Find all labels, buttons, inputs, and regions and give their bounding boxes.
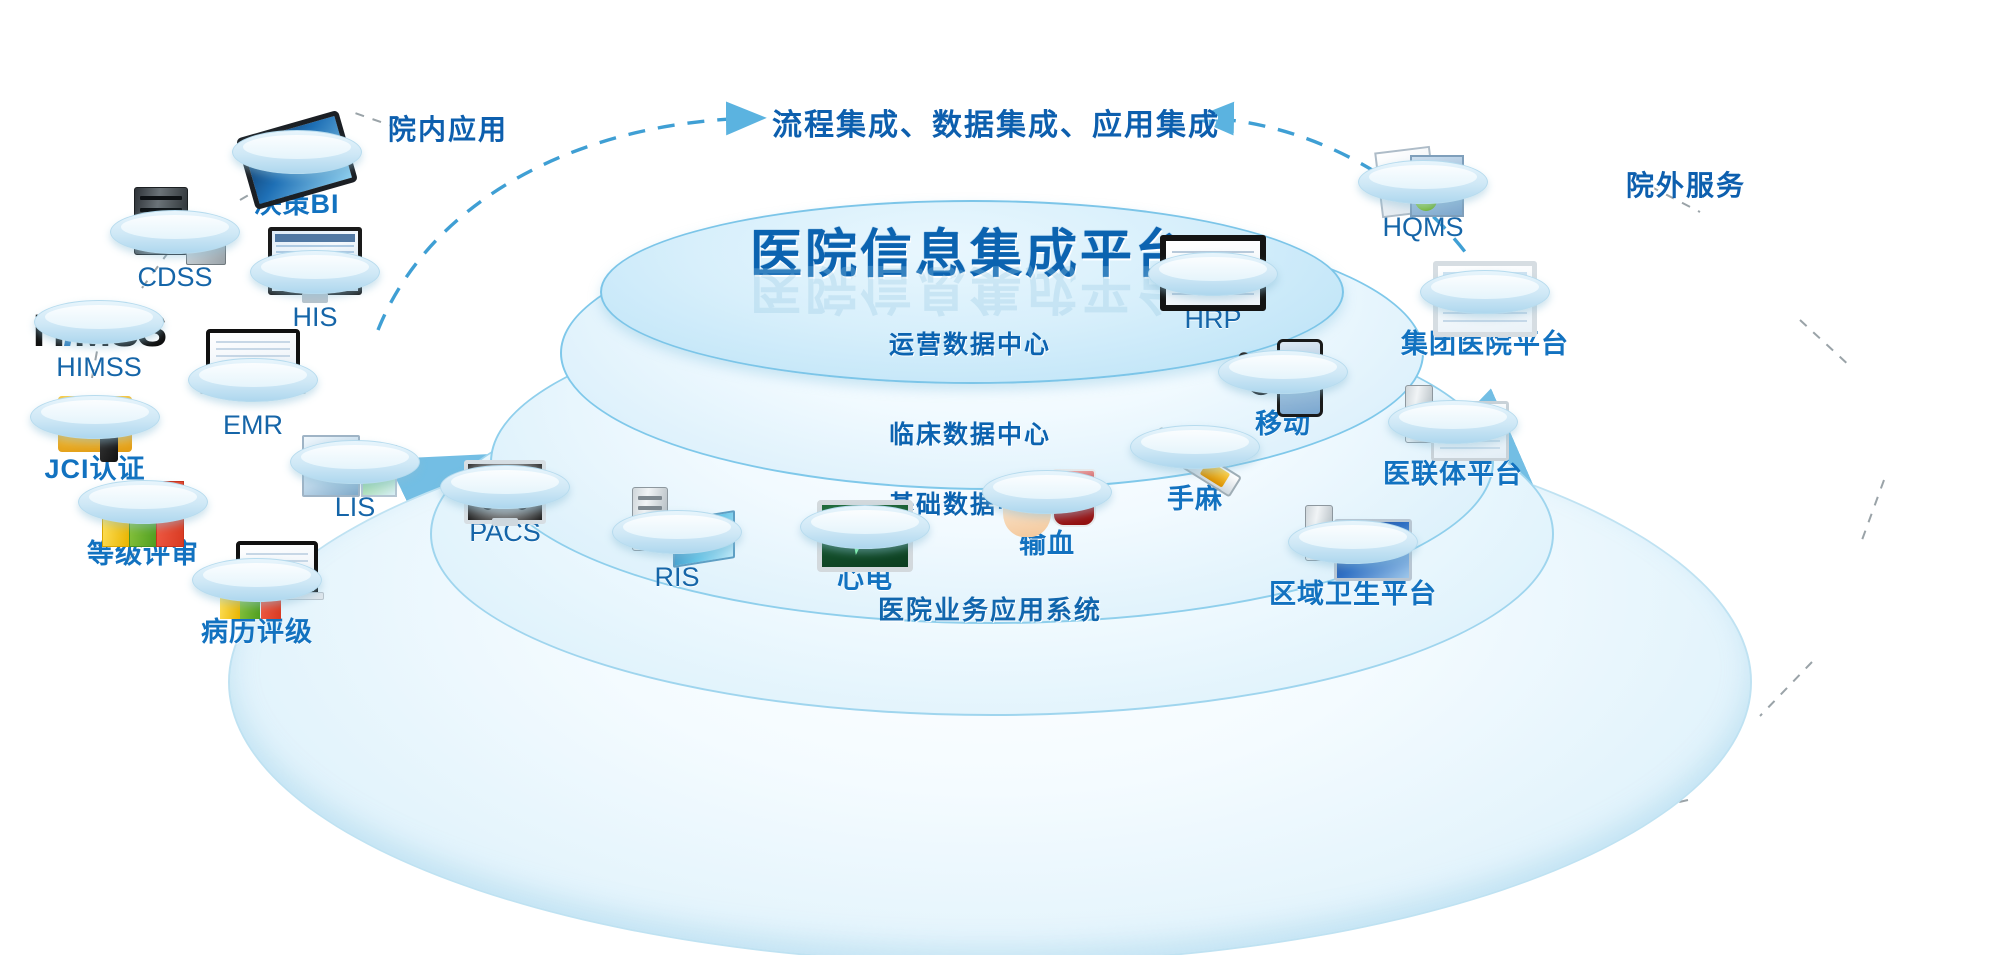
callout-inside-app: 院内应用	[388, 108, 508, 148]
node-himss[interactable]: HiMSS HIMSS	[14, 300, 184, 383]
node-pad	[800, 505, 930, 549]
node-ris[interactable]: RIS	[592, 510, 762, 593]
node-hqms[interactable]: HQMS	[1338, 160, 1508, 243]
node-pad	[232, 130, 362, 174]
node-pacs[interactable]: PACS	[420, 465, 590, 548]
node-pad	[1358, 160, 1488, 204]
node-hrp[interactable]: HRP	[1128, 252, 1298, 335]
node-pad	[34, 300, 164, 344]
node-pad	[1148, 252, 1278, 296]
node-pad	[192, 558, 322, 602]
node-pad	[78, 480, 208, 524]
node-pad	[30, 395, 160, 439]
node-pad	[250, 250, 380, 294]
node-pad	[1288, 520, 1418, 564]
node-record-grade[interactable]: 病历评级	[172, 558, 342, 649]
node-pad	[1388, 400, 1518, 444]
node-pad	[440, 465, 570, 509]
callout-outside-service: 院外服务	[1626, 164, 1746, 204]
node-group-hospital[interactable]: 集团医院平台	[1400, 270, 1570, 361]
integration-flow-label: 流程集成、数据集成、应用集成	[772, 100, 1220, 144]
node-medical-union[interactable]: 医联体平台	[1368, 400, 1538, 491]
node-regional-health[interactable]: 区域卫生平台	[1268, 520, 1438, 611]
node-his[interactable]: HIS	[230, 250, 400, 333]
node-pad	[1218, 350, 1348, 394]
business-systems-label: 医院业务应用系统	[620, 590, 1360, 627]
node-pad	[612, 510, 742, 554]
node-transfusion[interactable]: 输血	[962, 470, 1132, 561]
node-pad	[1420, 270, 1550, 314]
node-ecg[interactable]: 心电	[780, 505, 950, 596]
node-pad	[982, 470, 1112, 514]
diagram-canvas: 医院信息集成平台 医院信息集成平台 运营数据中心 临床数据中心 基础数据中心 医…	[0, 0, 2000, 955]
node-pad	[188, 358, 318, 402]
node-pad	[290, 440, 420, 484]
node-lis[interactable]: LIS	[270, 440, 440, 523]
node-mobile[interactable]: 移动	[1198, 350, 1368, 441]
node-pad	[110, 210, 240, 254]
